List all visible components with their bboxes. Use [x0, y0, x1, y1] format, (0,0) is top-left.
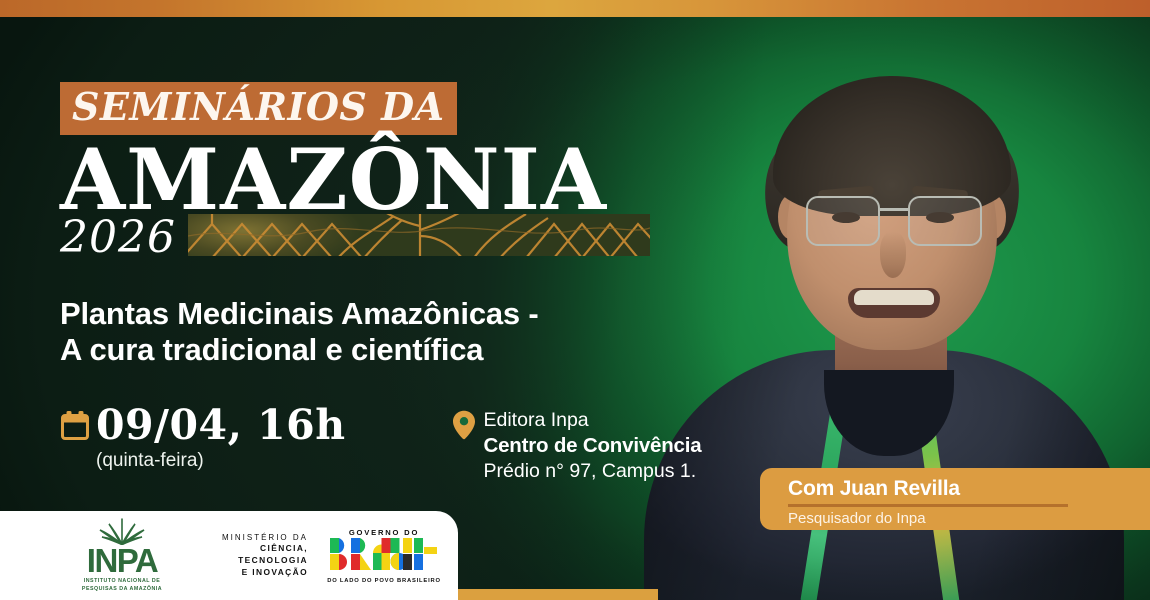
- ministry-logo: MINISTÉRIO DA CIÊNCIA, TECNOLOGIA E INOV…: [192, 532, 308, 579]
- kicker-banner: SEMINÁRIOS DA: [60, 82, 457, 135]
- talk-title-line-1: Plantas Medicinais Amazônicas -: [60, 296, 680, 332]
- government-logo: GOVERNO DO: [326, 528, 442, 584]
- bottom-accent-strip: [458, 589, 658, 600]
- ministry-line-2: CIÊNCIA, TECNOLOGIA: [192, 543, 308, 567]
- event-poster: SEMINÁRIOS DA AMAZÔNIA 2026: [0, 0, 1150, 600]
- speaker-banner: Com Juan Revilla Pesquisador do Inpa: [760, 468, 1150, 530]
- speaker-divider: [788, 504, 1068, 507]
- inpa-leaf-icon: [95, 517, 149, 545]
- inpa-logo: INPA INSTITUTO NACIONAL DE PESQUISAS DA …: [70, 517, 174, 595]
- location-line-2: Centro de Convivência: [484, 433, 702, 459]
- logo-bar: INPA INSTITUTO NACIONAL DE PESQUISAS DA …: [0, 511, 458, 600]
- location-line-3: Prédio n° 97, Campus 1.: [484, 459, 702, 484]
- event-weekday: (quinta-feira): [96, 450, 346, 472]
- brand-headline: SEMINÁRIOS DA AMAZÔNIA 2026: [60, 82, 660, 260]
- ministry-line-1: MINISTÉRIO DA: [192, 532, 308, 543]
- brasil-wordmark-icon: [329, 558, 439, 575]
- location-line-1: Editora Inpa: [484, 408, 702, 433]
- edition-year: 2026: [60, 216, 176, 260]
- location-block: Editora Inpa Centro de Convivência Prédi…: [452, 405, 702, 484]
- top-accent-bar: [0, 0, 1150, 17]
- inpa-wordmark: INPA: [87, 546, 157, 576]
- event-info: 09/04, 16h (quinta-feira) Editora Inpa C…: [60, 405, 701, 484]
- talk-title: Plantas Medicinais Amazônicas - A cura t…: [60, 296, 680, 369]
- talk-title-line-2: A cura tradicional e científica: [60, 332, 680, 368]
- government-line-top: GOVERNO DO: [326, 528, 442, 537]
- calendar-icon: [60, 410, 90, 441]
- map-pin-icon: [452, 410, 476, 440]
- ministry-line-3: E INOVAÇÃO: [192, 567, 308, 579]
- event-date: 09/04, 16h: [96, 405, 346, 446]
- date-block: 09/04, 16h (quinta-feira): [60, 405, 346, 484]
- series-title: AMAZÔNIA: [60, 141, 660, 220]
- government-line-bottom: DO LADO DO POVO BRASILEIRO: [326, 578, 442, 584]
- leaf-vein-texture: [188, 214, 650, 256]
- inpa-subtitle-line-2: PESQUISAS DA AMAZÔNIA: [82, 586, 162, 594]
- speaker-role: Pesquisador do Inpa: [788, 511, 1150, 528]
- speaker-name: Com Juan Revilla: [788, 477, 1150, 500]
- year-row: 2026: [60, 214, 660, 260]
